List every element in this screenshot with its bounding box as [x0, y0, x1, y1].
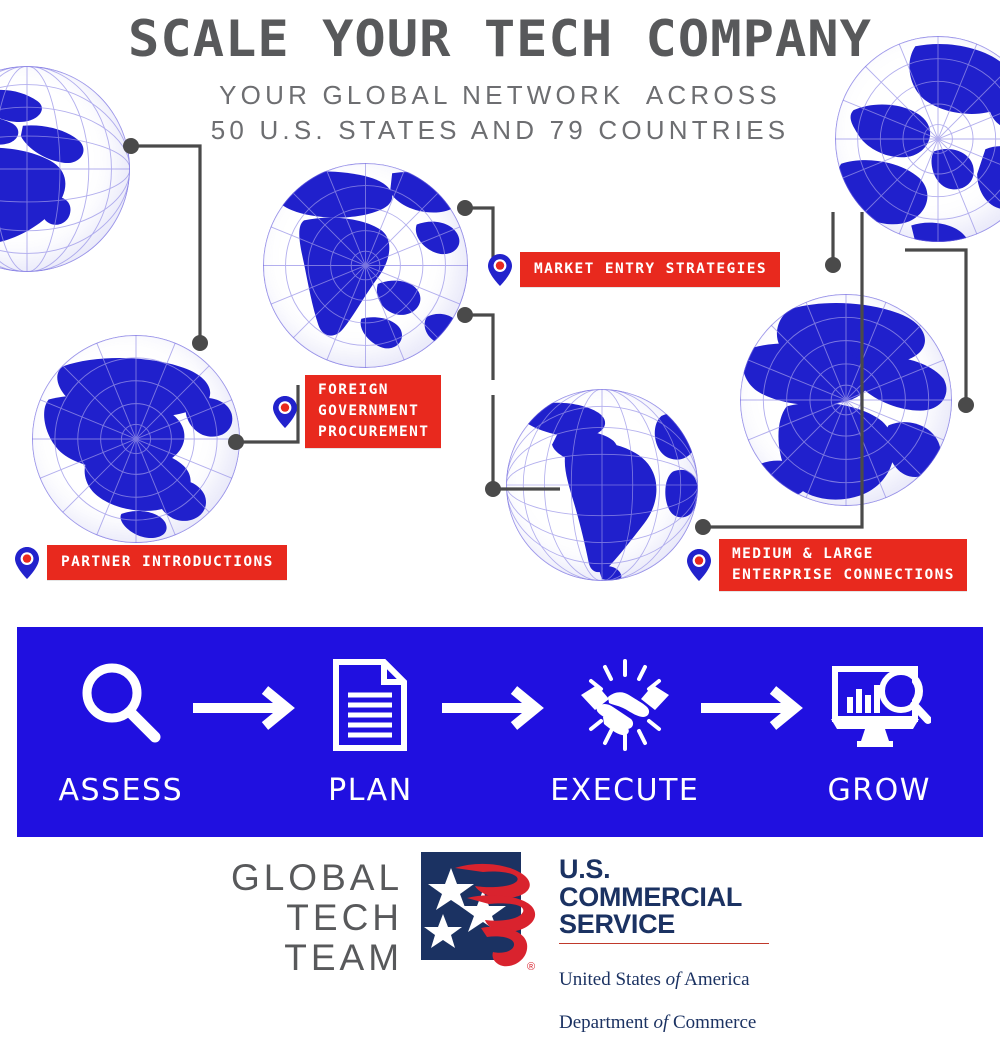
subtitle-line1-b: America — [680, 969, 749, 990]
subtitle-line2-b: Commerce — [668, 1012, 756, 1033]
arrow-right-icon — [699, 685, 809, 731]
footer-logos: GLOBAL TECH TEAM ® U.S. COMMERCI — [0, 846, 1000, 1000]
label-partner-introductions[interactable]: PARTNER INTRODUCTIONS — [14, 545, 287, 580]
label-text: FOREIGN GOVERNMENT PROCUREMENT — [305, 375, 441, 448]
process-bar: ASSESS — [17, 627, 983, 837]
svg-text:®: ® — [527, 961, 535, 973]
process-step-assess[interactable]: ASSESS — [51, 657, 191, 808]
subtitle-line2-a: Department — [559, 1012, 653, 1033]
monitor-chart-search-icon — [827, 657, 931, 753]
label-text: PARTNER INTRODUCTIONS — [47, 545, 287, 580]
global-tech-team-logo: GLOBAL TECH TEAM — [231, 858, 403, 978]
us-commercial-service-mark: ® — [421, 852, 549, 976]
process-step-grow[interactable]: GROW — [809, 657, 949, 808]
subtitle-line1-a: United States — [559, 969, 666, 990]
process-step-label: EXECUTE — [550, 773, 699, 808]
process-step-label: GROW — [827, 773, 930, 808]
label-market-entry-strategies[interactable]: MARKET ENTRY STRATEGIES — [487, 252, 780, 287]
arrow-right-icon — [191, 685, 301, 731]
divider — [559, 943, 769, 945]
subtitle-line1-of: of — [666, 969, 681, 990]
map-pin-icon — [487, 253, 513, 287]
header: SCALE YOUR TECH COMPANY YOUR GLOBAL NETW… — [0, 0, 1000, 147]
process-step-plan[interactable]: PLAN — [301, 657, 441, 808]
page-title: SCALE YOUR TECH COMPANY — [0, 14, 1000, 64]
label-foreign-government-procurement[interactable]: FOREIGN GOVERNMENT PROCUREMENT — [272, 375, 441, 448]
process-step-execute[interactable]: EXECUTE — [550, 657, 699, 808]
process-step-label: ASSESS — [58, 773, 183, 808]
us-commercial-service-logo: ® U.S. COMMERCIAL SERVICE United States … — [421, 852, 769, 1054]
document-icon — [328, 657, 412, 753]
us-commercial-service-title: U.S. COMMERCIAL SERVICE — [559, 856, 769, 939]
map-pin-icon — [686, 548, 712, 582]
handshake-icon — [575, 657, 675, 753]
label-text: MEDIUM & LARGE ENTERPRISE CONNECTIONS — [719, 539, 967, 591]
label-text: MARKET ENTRY STRATEGIES — [520, 252, 780, 287]
process-step-label: PLAN — [328, 773, 412, 808]
arrow-right-icon — [440, 685, 550, 731]
page-subtitle: YOUR GLOBAL NETWORK ACROSS 50 U.S. STATE… — [0, 78, 1000, 147]
us-commercial-service-subtitle: United States of America Department of C… — [559, 947, 769, 1054]
map-pin-icon — [272, 395, 298, 429]
subtitle-line2-of: of — [653, 1012, 668, 1033]
magnifying-glass-icon — [75, 657, 167, 753]
map-pin-icon — [14, 546, 40, 580]
label-medium-large-enterprise-connections[interactable]: MEDIUM & LARGE ENTERPRISE CONNECTIONS — [686, 539, 967, 591]
